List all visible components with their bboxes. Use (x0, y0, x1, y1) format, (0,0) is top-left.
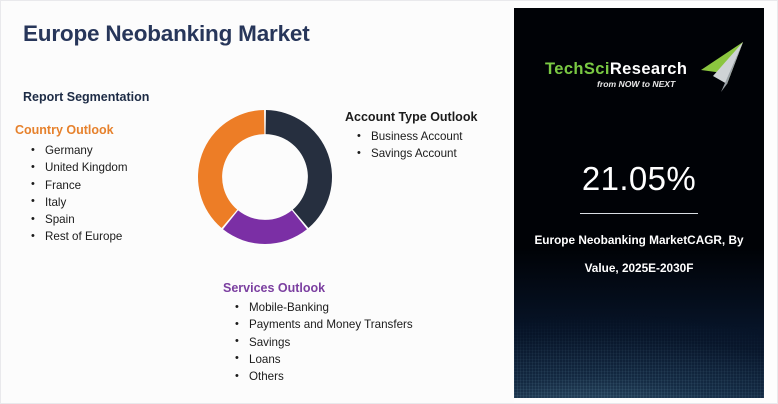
list-item: Loans (249, 351, 413, 368)
infographic-root: Europe Neobanking Market Report Segmenta… (0, 0, 778, 404)
list-item: France (45, 177, 128, 194)
brand-name-part1: TechSci (545, 60, 610, 78)
list-item: Payments and Money Transfers (249, 316, 413, 333)
country-outlook-heading: Country Outlook (15, 123, 128, 137)
kpi-panel: TechSciResearch from NOW to NEXT 21.05% … (514, 8, 764, 398)
donut-slice (198, 110, 264, 228)
donut-slice (223, 210, 307, 244)
donut-chart-svg (195, 107, 335, 247)
list-item: Business Account (371, 128, 477, 145)
services-outlook-heading: Services Outlook (223, 281, 413, 295)
list-item: Savings (249, 334, 413, 351)
account-type-outlook-block: Account Type Outlook Business Account Sa… (345, 110, 477, 163)
account-type-outlook-list: Business Account Savings Account (345, 128, 477, 163)
list-item: Savings Account (371, 145, 477, 162)
services-outlook-block: Services Outlook Mobile-Banking Payments… (223, 281, 413, 385)
cagr-value: 21.05% (514, 160, 764, 198)
left-content-area: Europe Neobanking Market Report Segmenta… (1, 1, 514, 404)
list-item: Italy (45, 194, 128, 211)
cagr-caption: Europe Neobanking MarketCAGR, By Value, … (528, 226, 750, 282)
brand-name-part2: Research (610, 60, 688, 78)
brand-logo: TechSciResearch from NOW to NEXT (514, 44, 764, 104)
list-item: Others (249, 368, 413, 385)
services-outlook-list: Mobile-Banking Payments and Money Transf… (223, 299, 413, 385)
list-item: Germany (45, 142, 128, 159)
page-title: Europe Neobanking Market (23, 21, 310, 47)
donut-slice (266, 110, 332, 228)
country-outlook-block: Country Outlook Germany United Kingdom F… (15, 123, 128, 246)
account-type-outlook-heading: Account Type Outlook (345, 110, 477, 124)
list-item: Rest of Europe (45, 228, 128, 245)
segmentation-donut-chart (195, 107, 335, 247)
list-item: United Kingdom (45, 159, 128, 176)
brand-tagline: from NOW to NEXT (597, 79, 675, 89)
country-outlook-list: Germany United Kingdom France Italy Spai… (15, 142, 128, 246)
report-segmentation-heading: Report Segmentation (23, 90, 149, 104)
brand-wordmark: TechSciResearch (545, 60, 687, 79)
list-item: Mobile-Banking (249, 299, 413, 316)
list-item: Spain (45, 211, 128, 228)
cagr-divider (580, 213, 698, 214)
